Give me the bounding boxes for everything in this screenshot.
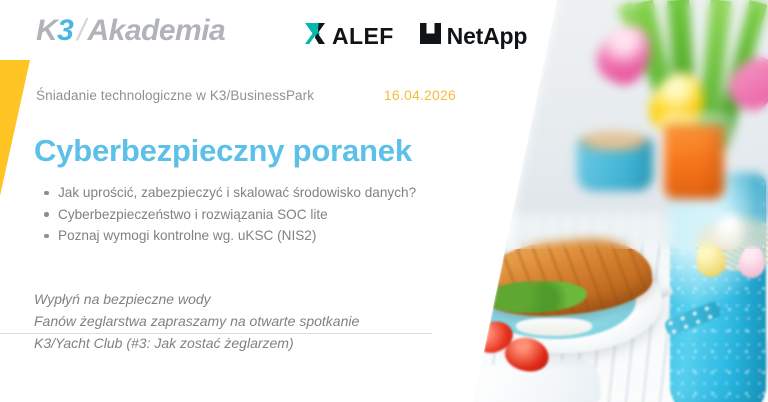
alef-x-mark-icon [304,22,326,50]
breakfast-photo [408,0,768,402]
netapp-logo: NetApp [420,23,528,50]
event-meta-row: Śniadanie technologiczne w K3/BusinessPa… [36,87,456,103]
logo-word-akademia: Akademia [87,14,225,48]
event-subtitle: Śniadanie technologiczne w K3/BusinessPa… [36,88,314,103]
orange-juice [664,125,724,199]
secondary-event-title: Wypłyń na bezpieczne wody [34,288,434,310]
partner-logo-row: ALEF NetApp [304,22,527,50]
k3-akademia-logo: K 3 / Akademia [36,12,225,48]
list-item: Cyberbezpieczeństwo i rozwiązania SOC li… [58,204,416,226]
netapp-wordmark: NetApp [447,23,528,50]
yellow-accent-wedge [0,60,30,196]
netapp-square-mark-icon [420,23,441,49]
secondary-event-line-3: K3/Yacht Club (#3: Jak zostać żeglarzem) [34,332,434,354]
logo-digit-3: 3 [57,14,73,48]
list-item: Jak uprościć, zabezpieczyć i skalować śr… [58,182,416,204]
secondary-event-line-2: Fanów żeglarstwa zapraszamy na otwarte s… [34,310,434,332]
agenda-list: Jak uprościć, zabezpieczyć i skalować śr… [36,182,416,247]
list-item: Poznaj wymogi kontrolne wg. uKSC (NIS2) [58,225,416,247]
vase-speckle-texture [670,173,766,402]
photo-background [408,0,768,402]
event-date: 16.04.2026 [384,87,456,103]
promotional-banner: K 3 / Akademia ALEF NetApp [0,0,768,402]
page-title: Cyberbezpieczny poranek [34,133,412,169]
secondary-event-block: Wypłyń na bezpieczne wody Fanów żeglarst… [34,288,434,354]
blue-tray [408,350,469,402]
logo-letter-k: K [36,14,57,48]
alef-wordmark: ALEF [332,23,394,50]
cream-cheese [516,318,592,336]
coffee-surface [581,131,647,151]
logo-divider-slash: / [77,12,85,48]
alef-logo: ALEF [304,22,394,50]
divider [0,333,432,334]
